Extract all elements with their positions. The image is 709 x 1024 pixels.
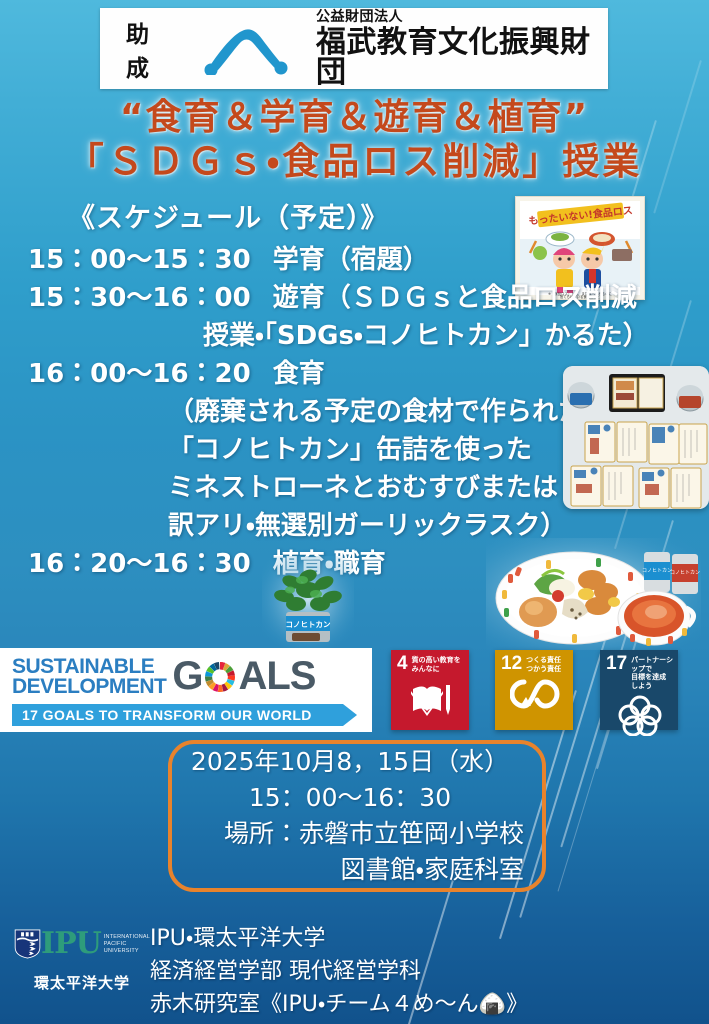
svg-text:コノヒトカン: コノヒトカン [286, 620, 331, 629]
event-date: 2025年10月8，15日（水） [172, 744, 528, 780]
sdg-goal-12-tile: 12 つくる責任 つかう責任 [495, 650, 573, 730]
sdg-tagline-strip: 17 GOALS TO TRANSFORM OUR WORLD [12, 704, 357, 726]
svg-text:コノヒトカン: コノヒトカン [670, 570, 700, 576]
sdg-goal-17-tile: 17 パートナーシップで 目標を達成しよう [600, 650, 678, 730]
sdg-goal-4-tile: 4 質の高い教育を みんなに [391, 650, 469, 730]
book-and-pencil-icon [397, 677, 464, 719]
organizer-text: IPU・環太平洋大学 経済経営学部 現代経営学科 赤木研究室《IPU・チーム４め… [150, 918, 528, 1021]
schedule-time: 15：00〜15：30 [28, 245, 251, 275]
sdg-goal-label: 質の高い教育を みんなに [412, 656, 461, 673]
plant-in-can-image: コノヒトカン [262, 556, 354, 652]
organizer-line-3: 赤木研究室《IPU・チーム４め〜ん🍙》 [150, 988, 528, 1021]
interlocking-circles-icon [606, 694, 673, 736]
schedule-row: 15：00〜15：30学育（宿題） [28, 241, 688, 279]
meal-with-soup-image: コノヒトカン コノヒトカン [486, 538, 701, 650]
schedule-row: 15：30〜16：00遊育（ＳＤＧｓと食品ロス削減 [28, 279, 688, 317]
sponsor-legal-form: 公益財団法人 [316, 10, 608, 24]
sdg-goal-label: パートナーシップで 目標を達成しよう [631, 656, 673, 690]
schedule-activity: ミネストローネとおむすびまたは [168, 473, 558, 503]
poster-title: “食育＆学育＆遊育＆植育” 「ＳＤＧｓ・食品ロス削減」授業 [0, 96, 709, 184]
ipu-jp-name: 環太平洋大学 [14, 972, 150, 993]
title-line-1: “食育＆学育＆遊育＆植育” [0, 96, 709, 140]
sponsor-org-name: 福武教育文化振興財団 [316, 28, 608, 88]
ipu-abbr: IPU [41, 930, 101, 958]
poster-root: 助成 公益財団法人 福武教育文化振興財団 “食育＆学育＆遊育＆植育” 「ＳＤＧｓ… [0, 0, 709, 1024]
schedule-activity: 学育（宿題） [273, 245, 429, 275]
infinity-loop-icon [501, 677, 568, 711]
sdg-logo-banner: SUSTAINABLE DEVELOPMENT G [0, 648, 372, 732]
ipu-en-line1: INTERNATIONAL [104, 934, 150, 941]
ipu-en-line3: UNIVERSITY [104, 948, 150, 955]
ipu-en-line2: PACIFIC [104, 941, 150, 948]
organizer-line-2: 経済経営学部 現代経営学科 [150, 955, 528, 988]
schedule-activity: 食育 [273, 359, 325, 389]
event-details-box: 2025年10月8，15日（水） 15：00〜16：30 場所：赤磐市立笹岡小学… [168, 740, 546, 892]
schedule-activity: 「コノヒトカン」缶詰を使った [168, 435, 532, 465]
schedule-row-continuation: 授業・「SDGs・コノヒトカン」かるた） [28, 317, 688, 355]
footer-organizer: IPU INTERNATIONAL PACIFIC UNIVERSITY 環太平… [0, 912, 709, 1024]
event-venue: 場所：赤磐市立笹岡小学校 [172, 816, 528, 852]
sdg-goal-label: つくる責任 つかう責任 [526, 656, 561, 673]
sdg-goal-number: 4 [397, 656, 408, 672]
schedule-activity: 授業・「SDGs・コノヒトカン」かるた） [203, 321, 649, 351]
sdg-word-development: DEVELOPMENT [12, 677, 166, 697]
sdg-goal-number: 12 [501, 656, 522, 672]
sponsor-band: 助成 公益財団法人 福武教育文化振興財団 [100, 8, 608, 89]
svg-text:コノヒトカン: コノヒトカン [642, 568, 672, 574]
schedule-time: 16：20〜16：30 [28, 549, 251, 579]
title-line-2: 「ＳＤＧｓ・食品ロス削減」授業 [0, 140, 709, 184]
fukutake-foundation-logo-icon [198, 23, 294, 75]
ipu-logo: IPU INTERNATIONAL PACIFIC UNIVERSITY 環太平… [0, 918, 150, 993]
event-room: 図書館・家庭科室 [172, 852, 528, 888]
event-time: 15：00〜16：30 [172, 780, 528, 816]
ipu-shield-icon [14, 918, 41, 970]
sdg-word-sustainable: SUSTAINABLE [12, 657, 166, 677]
schedule-time: 15：30〜16：00 [28, 283, 251, 313]
organizer-line-1: IPU・環太平洋大学 [150, 922, 528, 955]
sdg-goals-als: ALS [238, 654, 315, 699]
schedule-time: 16：00〜16：20 [28, 359, 251, 389]
schedule-activity: 訳アリ・無選別ガーリックラスク） [168, 511, 566, 541]
schedule-activity: （廃棄される予定の食材で作られた [168, 397, 584, 427]
sdg-goal-number: 17 [606, 656, 627, 672]
schedule-heading: 《スケジュール（予定）》 [68, 196, 688, 235]
grant-label: 助成 [126, 15, 172, 83]
sdg-color-wheel-icon [202, 659, 238, 695]
konohitokan-karuta-cards-image [563, 366, 709, 509]
sdg-goals-g: G [172, 654, 202, 699]
schedule-activity: 遊育（ＳＤＧｓと食品ロス削減 [273, 283, 637, 313]
